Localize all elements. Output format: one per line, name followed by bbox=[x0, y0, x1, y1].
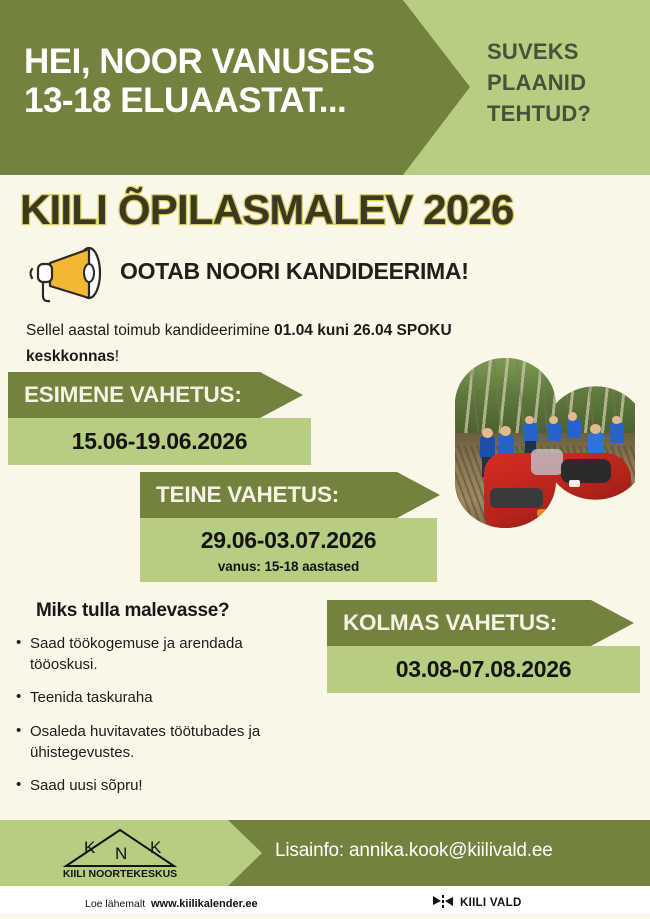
logo-caption: KIILI NOORTEKESKUS bbox=[63, 868, 177, 880]
read-more-label: Loe lähemalt bbox=[85, 898, 145, 910]
header-subtext: SUVEKS PLAANID TEHTUD? bbox=[487, 36, 637, 130]
intro-part1: Sellel aastal toimub kandideerimine bbox=[26, 322, 274, 339]
header-headline-line1: HEI, NOOR VANUSES bbox=[24, 42, 375, 81]
header-banner: HEI, NOOR VANUSES 13-18 ELUAASTAT... SUV… bbox=[0, 0, 650, 175]
shift-1-date: 15.06-19.06.2026 bbox=[8, 428, 311, 455]
list-item: Saad töökogemuse ja arendada tööoskusi. bbox=[14, 634, 314, 675]
header-subtext-line1: SUVEKS bbox=[487, 36, 637, 67]
shift-3-date: 03.08-07.08.2026 bbox=[327, 656, 640, 683]
footer-contact-email[interactable]: Lisainfo: annika.kook@kiilivald.ee bbox=[275, 840, 553, 862]
read-more-url[interactable]: www.kiilikalender.ee bbox=[151, 898, 258, 910]
shift-1-label: ESIMENE VAHETUS: bbox=[8, 382, 242, 408]
header-subtext-line3: TEHTUD? bbox=[487, 98, 637, 129]
shift-2-header: TEINE VAHETUS: bbox=[140, 472, 440, 518]
intro-paragraph: Sellel aastal toimub kandideerimine 01.0… bbox=[26, 318, 456, 369]
shift-2-label: TEINE VAHETUS: bbox=[140, 482, 339, 508]
logo-letter-mid: N bbox=[115, 844, 127, 863]
list-item: Saad uusi sõpru! bbox=[14, 776, 314, 797]
page-title: KIILI ÕPILASMALEV 2026 bbox=[20, 186, 514, 234]
intro-part3: ! bbox=[115, 348, 119, 365]
benefits-heading: Miks tulla malevasse? bbox=[36, 600, 229, 622]
shift-3-header: KOLMAS VAHETUS: bbox=[327, 600, 634, 646]
header-headline: HEI, NOOR VANUSES 13-18 ELUAASTAT... bbox=[24, 42, 424, 120]
read-more-text: Loe lähemalt www.kiilikalender.ee bbox=[85, 898, 258, 910]
header-headline-line2: 13-18 ELUAASTAT... bbox=[24, 81, 424, 120]
kiili-noortekeskus-logo: K N K KIILI NOORTEKESKUS bbox=[58, 826, 183, 880]
shift-1-body: 15.06-19.06.2026 bbox=[8, 418, 311, 465]
subtitle: OOTAB NOORI KANDIDEERIMA! bbox=[120, 258, 469, 285]
logo-letter-right: K bbox=[150, 838, 162, 857]
kiili-vald-mark-icon bbox=[432, 895, 454, 910]
list-item: Teenida taskuraha bbox=[14, 688, 314, 709]
shift-3-body: 03.08-07.08.2026 bbox=[327, 646, 640, 693]
list-item: Osaleda huvitavates töötubades ja ühiste… bbox=[14, 722, 314, 763]
intro-dates: 01.04 kuni 26.04 bbox=[274, 322, 392, 339]
benefits-list: Saad töökogemuse ja arendada tööoskusi. … bbox=[14, 634, 314, 810]
shift-1-header: ESIMENE VAHETUS: bbox=[8, 372, 303, 418]
megaphone-icon bbox=[26, 246, 118, 304]
logo-letter-left: K bbox=[84, 838, 96, 857]
kiili-vald-label: KIILI VALD bbox=[460, 897, 522, 909]
shift-3-label: KOLMAS VAHETUS: bbox=[327, 610, 557, 636]
activity-photo-image bbox=[455, 358, 635, 528]
bottom-rule bbox=[0, 914, 650, 919]
activity-photo bbox=[455, 358, 635, 528]
shift-2-date: 29.06-03.07.2026 bbox=[140, 527, 437, 554]
shift-2-age-note: vanus: 15-18 aastased bbox=[140, 559, 437, 574]
header-subtext-line2: PLAANID bbox=[487, 67, 637, 98]
shift-2-body: 29.06-03.07.2026 vanus: 15-18 aastased bbox=[140, 518, 437, 582]
